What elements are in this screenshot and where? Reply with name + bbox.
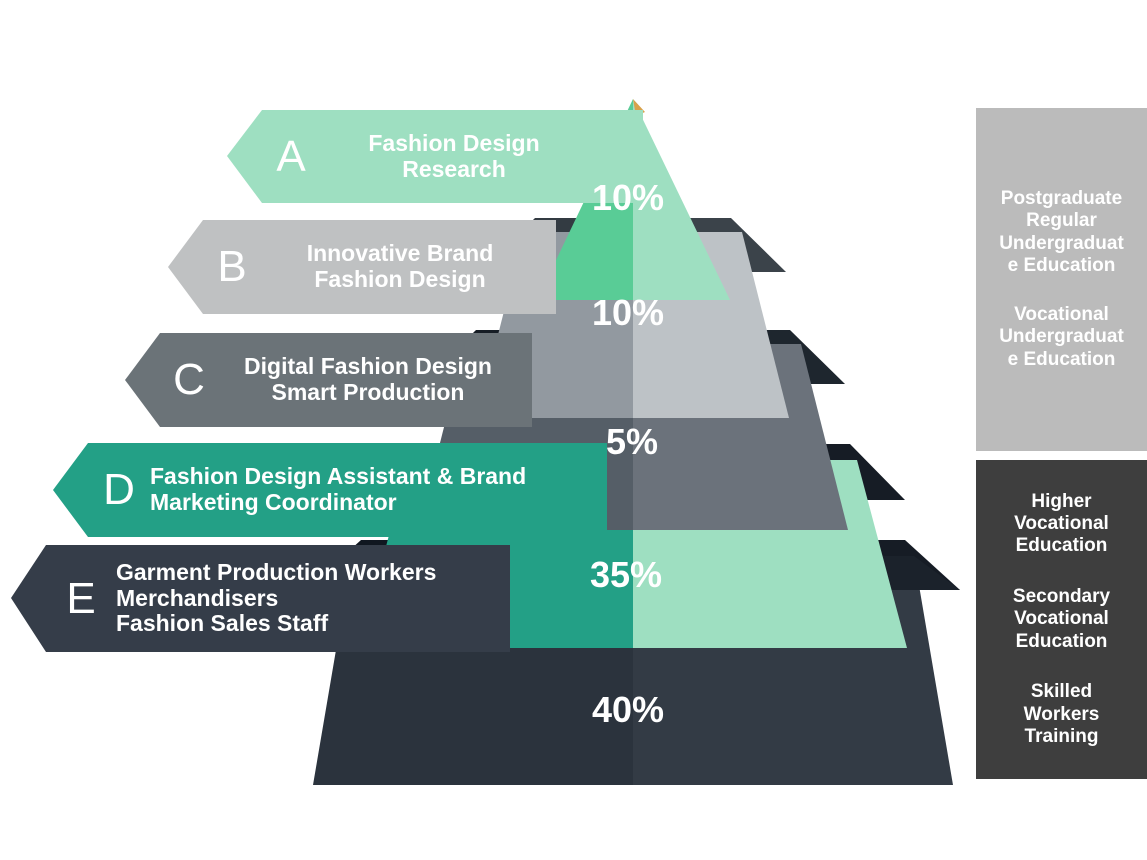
tag-A[interactable]: A Fashion Design Research bbox=[262, 110, 643, 203]
pyramid-infographic: A Fashion Design Research B Innovative B… bbox=[0, 0, 1147, 860]
legend-item-secondary-vocational: Secondary Vocational Education bbox=[1013, 586, 1110, 653]
percent-label-A: 10% bbox=[592, 180, 664, 216]
tag-E-letter: E bbox=[46, 577, 116, 621]
legend-item-postgraduate: Postgraduate Regular Undergraduat e Educ… bbox=[999, 188, 1124, 278]
legend-item-vocational-undergraduate: Vocational Undergraduat e Education bbox=[999, 304, 1124, 371]
tag-A-letter: A bbox=[262, 135, 320, 179]
tag-D[interactable]: D Fashion Design Assistant & Brand Marke… bbox=[88, 443, 607, 537]
percent-label-C: 5% bbox=[606, 424, 658, 460]
tag-E[interactable]: E Garment Production Workers Merchandise… bbox=[46, 545, 510, 652]
tag-B-description: Innovative Brand Fashion Design bbox=[261, 241, 539, 293]
legend-panel-academic[interactable]: Postgraduate Regular Undergraduat e Educ… bbox=[976, 108, 1147, 451]
tag-B[interactable]: B Innovative Brand Fashion Design bbox=[203, 220, 556, 314]
tag-C[interactable]: C Digital Fashion Design Smart Productio… bbox=[160, 333, 532, 427]
legend-panel-vocational[interactable]: Higher Vocational Education Secondary Vo… bbox=[976, 460, 1147, 779]
percent-label-B: 10% bbox=[592, 295, 664, 331]
tag-C-description: Digital Fashion Design Smart Production bbox=[218, 354, 518, 406]
percent-label-E: 40% bbox=[592, 692, 664, 728]
tag-A-description: Fashion Design Research bbox=[320, 131, 588, 183]
percent-label-D: 35% bbox=[590, 557, 662, 593]
tag-E-description: Garment Production Workers Merchandisers… bbox=[116, 560, 496, 637]
tag-C-letter: C bbox=[160, 358, 218, 402]
tag-D-description: Fashion Design Assistant & Brand Marketi… bbox=[150, 464, 590, 516]
legend-item-skilled-workers: Skilled Workers Training bbox=[1024, 681, 1100, 748]
legend-item-higher-vocational: Higher Vocational Education bbox=[1014, 491, 1109, 558]
tag-D-letter: D bbox=[88, 468, 150, 512]
tag-B-letter: B bbox=[203, 245, 261, 289]
